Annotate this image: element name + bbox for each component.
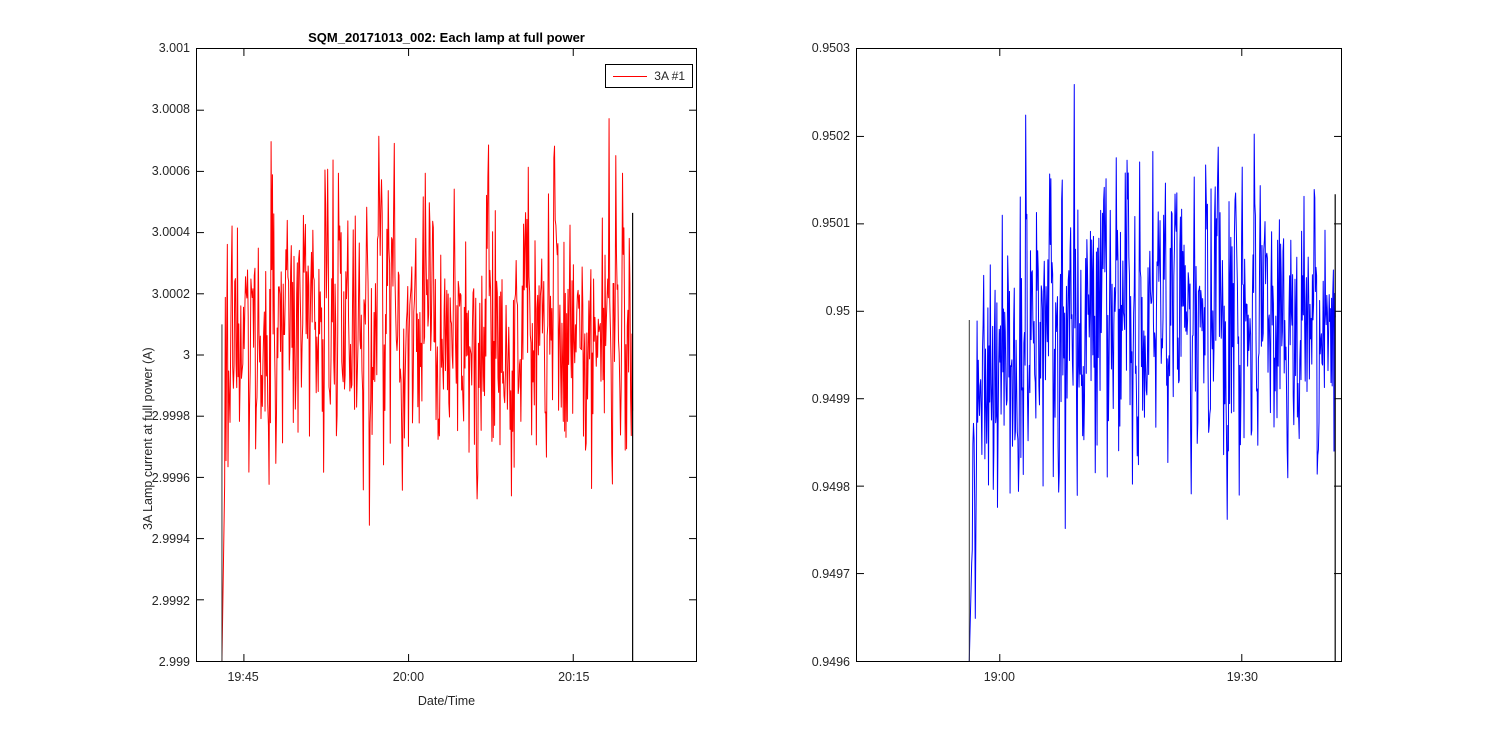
y-tick-label: 0.9501 <box>788 216 850 230</box>
y-tick-label: 2.999 <box>128 655 190 669</box>
y-tick-label: 0.9499 <box>788 392 850 406</box>
y-tick-label: 0.9498 <box>788 480 850 494</box>
y-tick-label: 0.9502 <box>788 129 850 143</box>
legend-label: 3A #1 <box>654 69 685 83</box>
x-tick-label: 19:30 <box>1227 670 1258 684</box>
y-tick-label: 0.9497 <box>788 567 850 581</box>
y-tick-label: 3.0008 <box>128 102 190 116</box>
x-tick-label: 20:00 <box>393 670 424 684</box>
x-axis-label-left: Date/Time <box>196 694 697 708</box>
plot-panel-left: SQM_20171013_002: Each lamp at full powe… <box>0 0 750 750</box>
series-line <box>222 119 633 661</box>
y-tick-label: 3.0002 <box>128 287 190 301</box>
series-line <box>969 85 1335 661</box>
y-tick-label: 3.0006 <box>128 164 190 178</box>
data-trace-right <box>857 49 1341 661</box>
y-tick-label: 0.9503 <box>788 41 850 55</box>
y-tick-label: 2.9994 <box>128 532 190 546</box>
y-tick-label: 0.9496 <box>788 655 850 669</box>
y-tick-label: 2.9998 <box>128 409 190 423</box>
x-tick-label: 20:15 <box>558 670 589 684</box>
y-tick-label: 3.001 <box>128 41 190 55</box>
plot-area-left <box>196 48 697 662</box>
figure-canvas: SQM_20171013_002: Each lamp at full powe… <box>0 0 1500 750</box>
y-axis-label-left: 3A Lamp current at full power (A) <box>141 347 155 530</box>
y-tick-label: 2.9996 <box>128 471 190 485</box>
plot-area-right <box>856 48 1342 662</box>
page-title: SQM_20171013_002: Each lamp at full powe… <box>196 30 697 45</box>
y-tick-label: 2.9992 <box>128 594 190 608</box>
plot-panel-right: 1A Lamp current at full power (A) Date/T… <box>750 0 1500 750</box>
y-tick-label: 3.0004 <box>128 225 190 239</box>
y-tick-label: 0.95 <box>788 304 850 318</box>
y-tick-label: 3 <box>128 348 190 362</box>
legend-line-icon <box>613 76 647 77</box>
legend-left[interactable]: 3A #1 <box>605 64 693 88</box>
x-tick-label: 19:00 <box>984 670 1015 684</box>
x-tick-label: 19:45 <box>227 670 258 684</box>
data-trace-left <box>197 49 696 661</box>
